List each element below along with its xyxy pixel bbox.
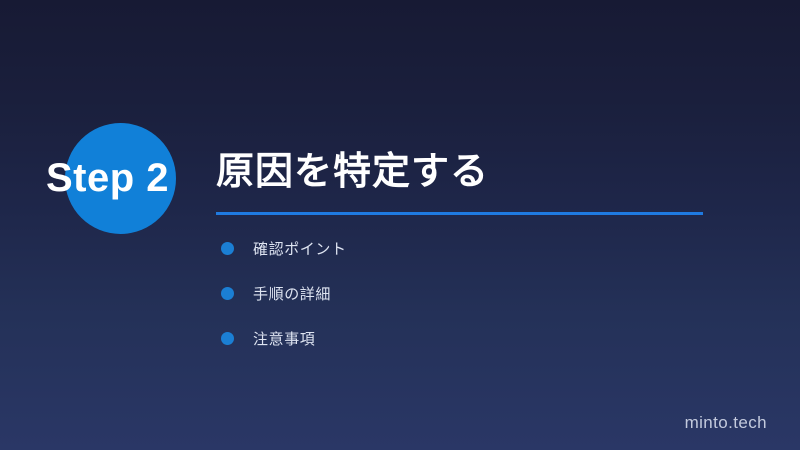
- page-title: 原因を特定する: [216, 148, 756, 196]
- bullet-list: 確認ポイント 手順の詳細 注意事項: [216, 230, 686, 365]
- list-item: 注意事項: [216, 320, 686, 356]
- bullet-dot-icon: [221, 287, 234, 300]
- list-item-label: 確認ポイント: [253, 238, 347, 259]
- footer-brand: minto.tech: [685, 413, 767, 433]
- list-item: 手順の詳細: [216, 275, 686, 311]
- title-divider: [216, 212, 703, 215]
- slide-canvas: Step 2 原因を特定する 確認ポイント 手順の詳細 注意事項 minto.t…: [0, 0, 800, 450]
- bullet-dot-icon: [221, 332, 234, 345]
- bullet-dot-icon: [221, 242, 234, 255]
- list-item-label: 注意事項: [253, 328, 315, 349]
- list-item: 確認ポイント: [216, 230, 686, 266]
- list-item-label: 手順の詳細: [253, 283, 331, 304]
